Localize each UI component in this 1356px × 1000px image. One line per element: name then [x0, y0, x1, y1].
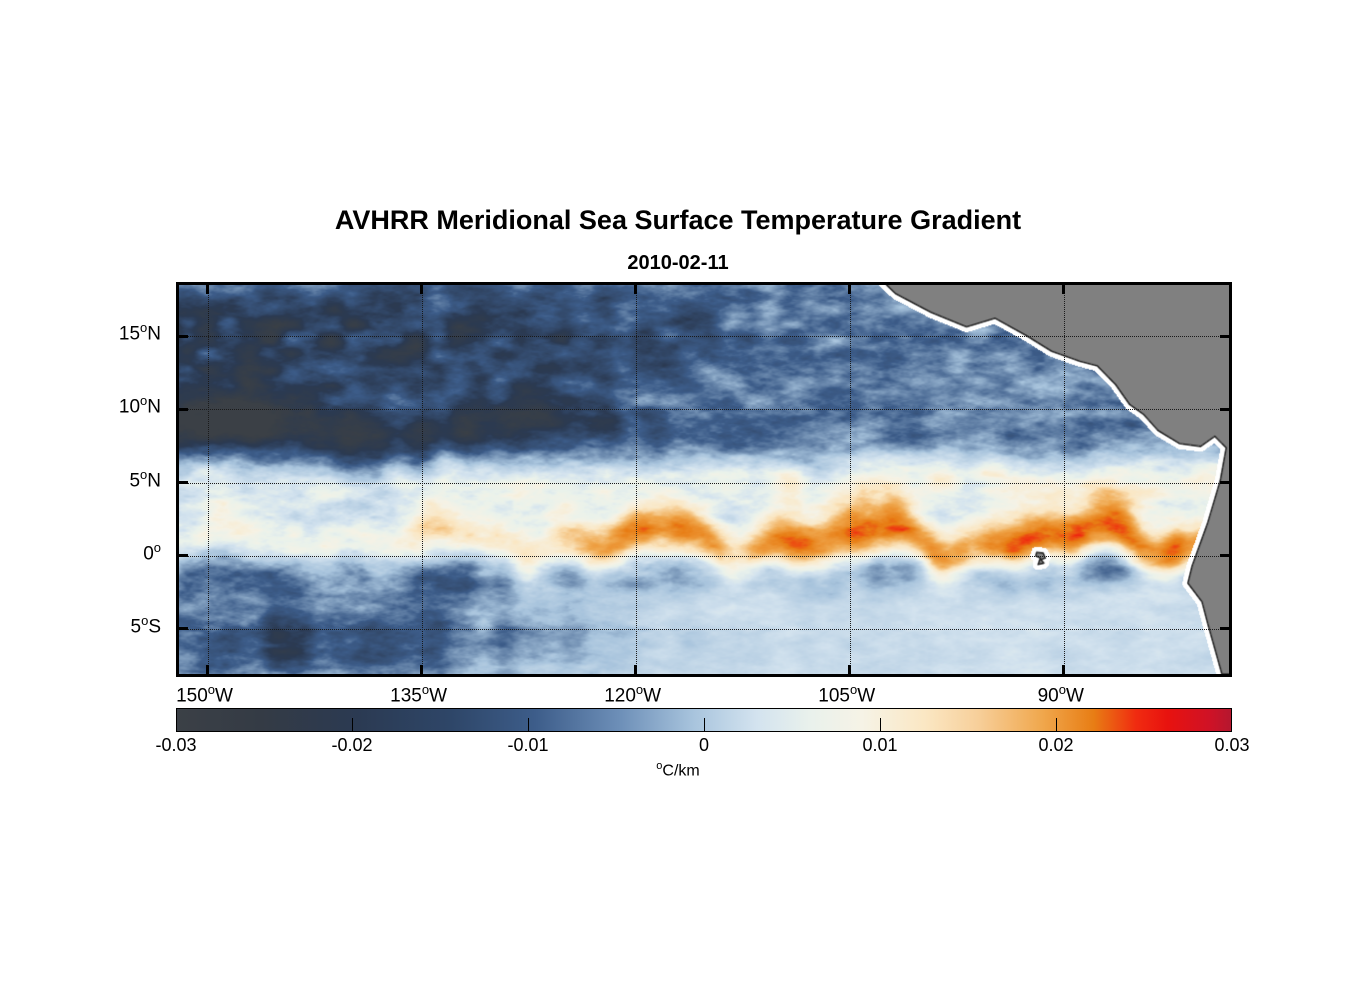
colorbar-label-0.02: 0.02: [996, 735, 1116, 756]
gridline-lat-5°S: [179, 629, 1229, 630]
y-tick-l: [179, 627, 188, 630]
y-tick-l: [179, 408, 188, 411]
colorbar-tick: [704, 718, 705, 731]
figure-root: AVHRR Meridional Sea Surface Temperature…: [0, 0, 1356, 1000]
colorbar-label-0.01: 0.01: [820, 735, 940, 756]
x-tick-b: [848, 665, 851, 674]
x-tick-b: [1062, 665, 1065, 674]
gridline-lat-5°N: [179, 483, 1229, 484]
x-tick-t: [420, 285, 423, 294]
y-tick-label-15°N: 15oN: [41, 320, 161, 345]
x-tick-b: [420, 665, 423, 674]
colorbar-label-0: 0: [644, 735, 764, 756]
y-tick-label-0°: 0o: [41, 540, 161, 565]
x-tick-t: [206, 285, 209, 294]
colorbar-unit-label: oC/km: [0, 760, 1356, 780]
gridline-lat-15°N: [179, 336, 1229, 337]
x-tick-label-120°W: 120oW: [563, 682, 703, 707]
x-tick-label-105°W: 105oW: [777, 682, 917, 707]
y-tick-l: [179, 481, 188, 484]
y-tick-r: [1220, 627, 1229, 630]
page-title: AVHRR Meridional Sea Surface Temperature…: [0, 205, 1356, 236]
x-tick-t: [1062, 285, 1065, 294]
gridline-lon-120°W: [636, 285, 637, 674]
colorbar-tick: [528, 718, 529, 731]
x-tick-label-135°W: 135oW: [349, 682, 489, 707]
gridlines-layer: [179, 285, 1229, 674]
colorbar-label--0.03: -0.03: [116, 735, 236, 756]
y-tick-l: [179, 335, 188, 338]
y-tick-r: [1220, 408, 1229, 411]
colorbar-tick: [1056, 718, 1057, 731]
gridline-lat-0°: [179, 556, 1229, 557]
colorbar-label--0.02: -0.02: [292, 735, 412, 756]
colorbar-label-0.03: 0.03: [1172, 735, 1292, 756]
colorbar-label--0.01: -0.01: [468, 735, 588, 756]
y-tick-r: [1220, 335, 1229, 338]
y-tick-label-10°N: 10oN: [41, 393, 161, 418]
x-tick-label-90°W: 90oW: [991, 682, 1131, 707]
gridline-lat-10°N: [179, 409, 1229, 410]
x-tick-b: [206, 665, 209, 674]
y-tick-l: [179, 554, 188, 557]
x-tick-label-150°W: 150oW: [135, 682, 275, 707]
gridline-lon-90°W: [1064, 285, 1065, 674]
gridline-lon-135°W: [422, 285, 423, 674]
x-tick-t: [634, 285, 637, 294]
chart-subtitle-date: 2010-02-11: [0, 252, 1356, 275]
colorbar-tick: [352, 718, 353, 731]
colorbar-tick: [880, 718, 881, 731]
x-tick-b: [634, 665, 637, 674]
y-tick-r: [1220, 554, 1229, 557]
y-tick-label-5°S: 5oS: [41, 613, 161, 638]
gridline-lon-105°W: [850, 285, 851, 674]
y-tick-r: [1220, 481, 1229, 484]
y-tick-label-5°N: 5oN: [41, 467, 161, 492]
x-tick-t: [848, 285, 851, 294]
gridline-lon-150°W: [208, 285, 209, 674]
map-axes: [176, 282, 1232, 677]
